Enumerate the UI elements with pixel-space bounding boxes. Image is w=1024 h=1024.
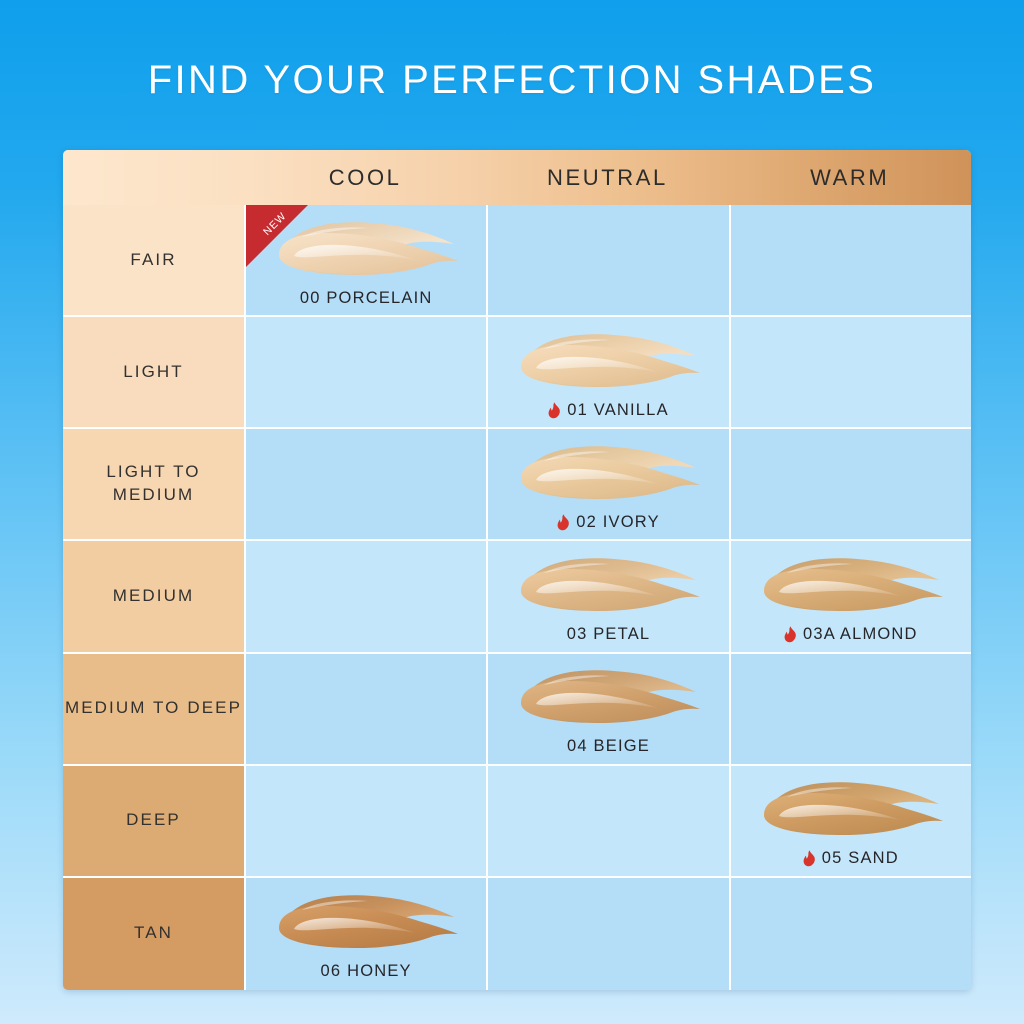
cell-tan-cool[interactable]: 06 HONEY <box>244 878 486 990</box>
cell-medium-warm[interactable]: 03A ALMOND <box>729 541 971 653</box>
cell-light-warm[interactable] <box>729 317 971 429</box>
cell-light-neutral[interactable]: 01 VANILLA <box>486 317 728 429</box>
cell-light-cool[interactable] <box>244 317 486 429</box>
cell-light-medium-warm[interactable] <box>729 429 971 541</box>
shade-swatch-03[interactable]: 03 PETAL <box>488 541 728 651</box>
table-row: DEEP 05 <box>63 766 971 878</box>
cell-deep-warm[interactable]: 05 SAND <box>729 766 971 878</box>
cell-deep-neutral[interactable] <box>486 766 728 878</box>
header-corner-cell <box>63 150 244 205</box>
foundation-smear-icon <box>268 886 464 958</box>
cell-tan-warm[interactable] <box>729 878 971 990</box>
shade-swatch-06[interactable]: 06 HONEY <box>246 878 486 990</box>
shade-label: 00 PORCELAIN <box>300 289 433 308</box>
shade-label: 03 PETAL <box>567 625 651 644</box>
cell-fair-neutral[interactable] <box>486 205 728 317</box>
shade-label: 04 BEIGE <box>567 737 650 756</box>
table-row: MEDIUM TO DEEP 0 <box>63 654 971 766</box>
shade-name-text: 02 IVORY <box>576 513 660 532</box>
table-row: TAN 06 HONEY <box>63 878 971 990</box>
cell-light-medium-cool[interactable] <box>244 429 486 541</box>
cell-fair-warm[interactable] <box>729 205 971 317</box>
foundation-smear-icon <box>510 549 706 621</box>
shade-matrix-table: COOL NEUTRAL WARM FAIR <box>63 150 971 990</box>
foundation-smear-icon <box>510 325 706 397</box>
row-label-light-medium: LIGHT TO MEDIUM <box>63 429 244 541</box>
table-row: LIGHT 01 <box>63 317 971 429</box>
shade-name-text: 06 HONEY <box>321 962 412 981</box>
page-title: FIND YOUR PERFECTION SHADES <box>0 58 1024 103</box>
row-label-tan: TAN <box>63 878 244 990</box>
row-label-light: LIGHT <box>63 317 244 429</box>
shade-finder-page: FIND YOUR PERFECTION SHADES COOL NEUTRAL… <box>0 0 1024 1024</box>
table-header-row: COOL NEUTRAL WARM <box>63 150 971 205</box>
cell-tan-neutral[interactable] <box>486 878 728 990</box>
shade-name-text: 04 BEIGE <box>567 737 650 756</box>
shade-label: 02 IVORY <box>557 513 660 532</box>
shade-swatch-05[interactable]: 05 SAND <box>731 766 971 876</box>
shade-name-text: 01 VANILLA <box>567 401 669 420</box>
shade-swatch-04[interactable]: 04 BEIGE <box>488 654 728 764</box>
table-body: FAIR 00 PORCELAI <box>63 205 971 990</box>
cell-medium-deep-warm[interactable] <box>729 654 971 766</box>
table-row: MEDIUM 03 PETAL <box>63 541 971 653</box>
foundation-smear-icon <box>268 213 464 285</box>
row-label-deep: DEEP <box>63 766 244 878</box>
shade-name-text: 05 SAND <box>822 849 899 868</box>
row-label-medium-deep: MEDIUM TO DEEP <box>63 654 244 766</box>
foundation-smear-icon <box>510 661 706 733</box>
shade-name-text: 03A ALMOND <box>803 625 918 644</box>
cell-fair-cool[interactable]: 00 PORCELAINNEW <box>244 205 486 317</box>
foundation-smear-icon <box>753 549 949 621</box>
row-label-medium: MEDIUM <box>63 541 244 653</box>
cell-medium-neutral[interactable]: 03 PETAL <box>486 541 728 653</box>
shade-label: 01 VANILLA <box>548 401 669 420</box>
cell-medium-deep-neutral[interactable]: 04 BEIGE <box>486 654 728 766</box>
table-row: FAIR 00 PORCELAI <box>63 205 971 317</box>
shade-swatch-01[interactable]: 01 VANILLA <box>488 317 728 427</box>
cell-medium-cool[interactable] <box>244 541 486 653</box>
shade-name-text: 03 PETAL <box>567 625 651 644</box>
shade-swatch-02[interactable]: 02 IVORY <box>488 429 728 539</box>
column-header-cool: COOL <box>244 150 486 205</box>
foundation-smear-icon <box>510 437 706 509</box>
column-header-neutral: NEUTRAL <box>486 150 728 205</box>
table-row: LIGHT TO MEDIUM <box>63 429 971 541</box>
shade-name-text: 00 PORCELAIN <box>300 289 433 308</box>
row-label-fair: FAIR <box>63 205 244 317</box>
cell-light-medium-neutral[interactable]: 02 IVORY <box>486 429 728 541</box>
foundation-smear-icon <box>753 773 949 845</box>
flame-icon <box>784 626 797 643</box>
cell-deep-cool[interactable] <box>244 766 486 878</box>
shade-swatch-03a[interactable]: 03A ALMOND <box>731 541 971 651</box>
column-header-warm: WARM <box>729 150 971 205</box>
flame-icon <box>548 402 561 419</box>
shade-label: 05 SAND <box>803 849 899 868</box>
flame-icon <box>803 850 816 867</box>
shade-label: 03A ALMOND <box>784 625 918 644</box>
flame-icon <box>557 514 570 531</box>
shade-swatch-00[interactable]: 00 PORCELAIN <box>246 205 486 315</box>
cell-medium-deep-cool[interactable] <box>244 654 486 766</box>
shade-label: 06 HONEY <box>321 962 412 981</box>
